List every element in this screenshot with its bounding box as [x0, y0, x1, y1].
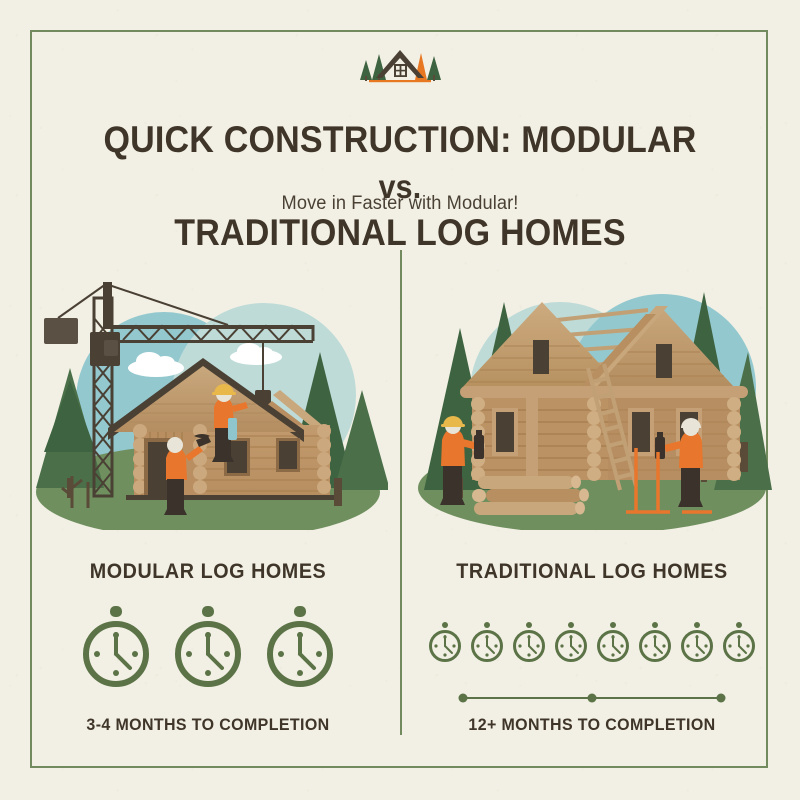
modular-log-home-construction-illustration — [28, 240, 388, 530]
log-home-roof-logo — [352, 44, 448, 84]
column-traditional: TRADITIONAL LOG HOMES — [412, 240, 772, 740]
traditional-log-home-construction-illustration — [412, 240, 772, 530]
infographic-poster: Quick Construction: Modular vs. Traditio… — [0, 0, 800, 800]
clock-group-traditional — [412, 622, 772, 664]
corner-logs-right — [317, 424, 331, 494]
page-subtitle: Move in Faster with Modular! — [16, 193, 784, 215]
clock-icon — [262, 606, 338, 690]
column-heading-modular: MODULAR LOG HOMES — [39, 560, 377, 584]
clock-icon — [679, 622, 715, 664]
timeline-rule — [458, 693, 726, 703]
clock-icon — [78, 606, 154, 690]
clock-icon — [170, 606, 246, 690]
timeline-dot — [588, 694, 597, 703]
clock-icon — [553, 622, 589, 664]
clock-group-modular — [28, 606, 388, 690]
page-title-line-1: Quick Construction: Modular — [103, 119, 696, 160]
stump-right — [334, 478, 342, 506]
clock-icon — [511, 622, 547, 664]
timeline-dot — [459, 694, 468, 703]
log-pile — [472, 476, 589, 516]
clock-icon — [721, 622, 757, 664]
column-heading-traditional: TRADITIONAL LOG HOMES — [423, 560, 761, 584]
column-caption-modular: 3-4 MONTHS TO COMPLETION — [39, 715, 377, 735]
column-modular: MODULAR LOG HOMES — [28, 240, 388, 740]
column-divider — [400, 250, 402, 735]
page-title: Quick Construction: Modular vs. Traditio… — [87, 117, 713, 256]
clock-icon — [595, 622, 631, 664]
clock-icon — [637, 622, 673, 664]
clock-icon — [427, 622, 463, 664]
column-caption-traditional: 12+ MONTHS TO COMPLETION — [423, 715, 761, 735]
clock-icon — [469, 622, 505, 664]
timeline-dot — [717, 694, 726, 703]
